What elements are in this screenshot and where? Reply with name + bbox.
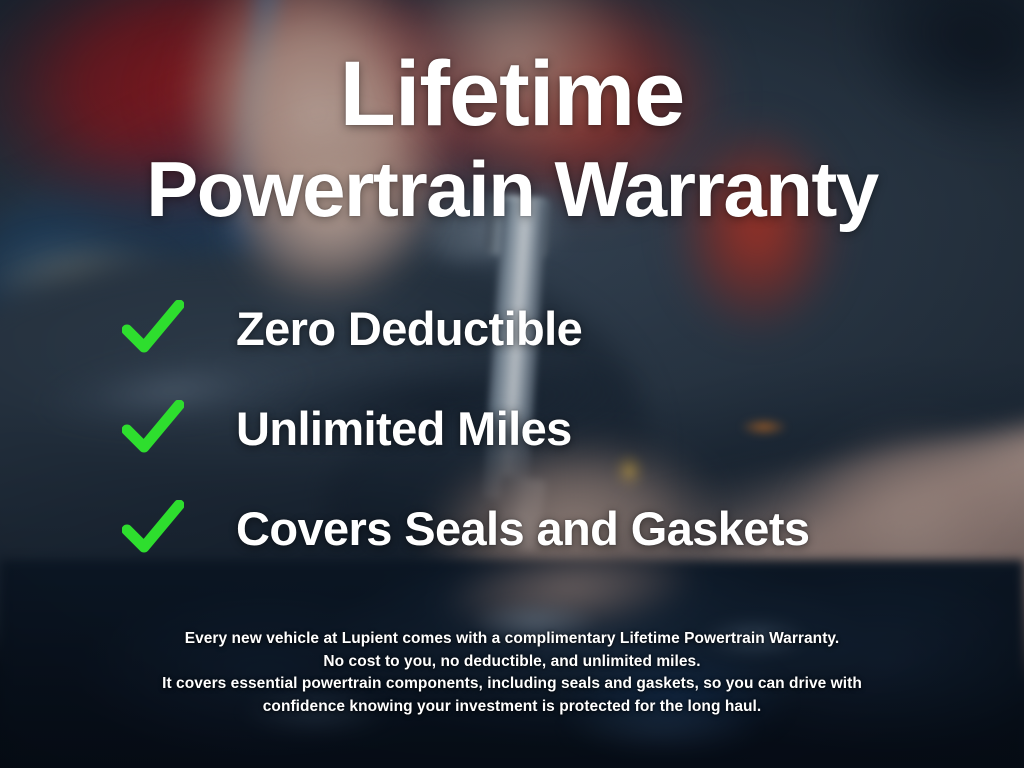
description-line-4: confidence knowing your investment is pr… bbox=[0, 696, 1024, 719]
feature-item-zero-deductible: Zero Deductible bbox=[0, 278, 1024, 378]
description-line-2: No cost to you, no deductible, and unlim… bbox=[0, 651, 1024, 674]
page-title-line-1: Lifetime bbox=[0, 48, 1024, 140]
check-icon bbox=[122, 300, 184, 356]
description-paragraph: Every new vehicle at Lupient comes with … bbox=[0, 628, 1024, 718]
feature-item-unlimited-miles: Unlimited Miles bbox=[0, 378, 1024, 478]
feature-label: Covers Seals and Gaskets bbox=[236, 501, 809, 556]
page-title-line-2: Powertrain Warranty bbox=[0, 150, 1024, 228]
check-icon bbox=[122, 500, 184, 556]
description-line-3: It covers essential powertrain component… bbox=[0, 673, 1024, 696]
promo-banner: Lifetime Powertrain Warranty Zero Deduct… bbox=[0, 0, 1024, 768]
feature-label: Unlimited Miles bbox=[236, 401, 572, 456]
description-line-1: Every new vehicle at Lupient comes with … bbox=[0, 628, 1024, 651]
feature-label: Zero Deductible bbox=[236, 301, 582, 356]
check-icon bbox=[122, 400, 184, 456]
feature-item-covers-seals-and-gaskets: Covers Seals and Gaskets bbox=[0, 478, 1024, 578]
feature-list: Zero Deductible Unlimited Miles Covers S… bbox=[0, 278, 1024, 578]
